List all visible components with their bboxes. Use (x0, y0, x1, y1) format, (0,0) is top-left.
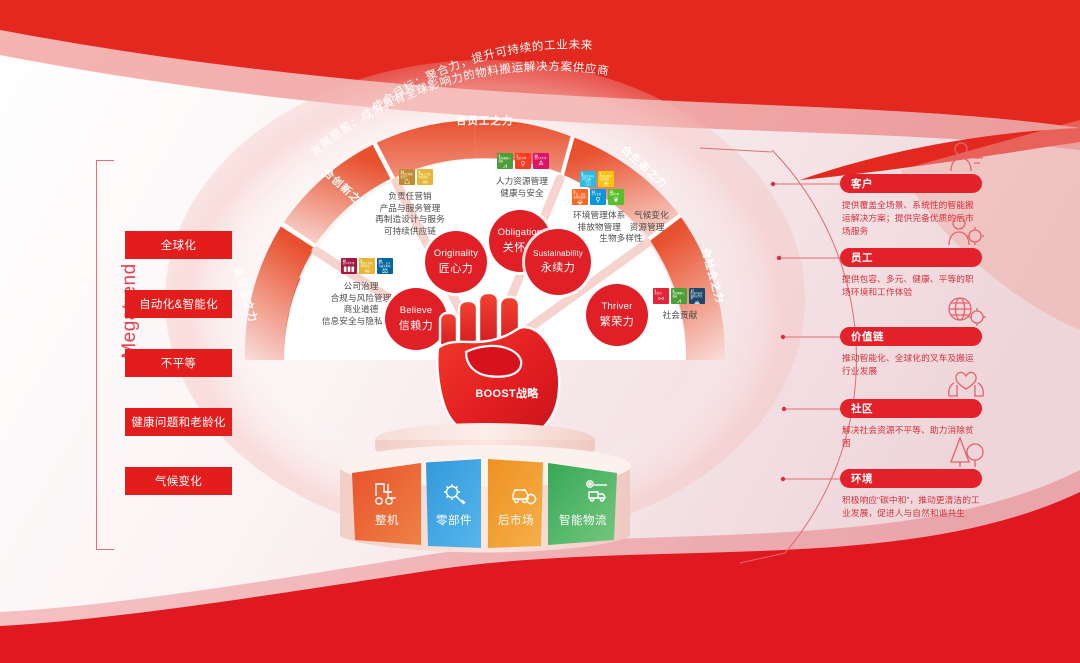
boost-strategy-label: BOOST战略 (432, 385, 582, 401)
sdg-icon-14: 14 水下生物 ⚲ (590, 189, 606, 205)
megatrend-item-globalization[interactable]: 全球化 (125, 231, 232, 259)
stakeholder-employee[interactable]: 员工 提供包容、多元、健康、平等的职场环境和工作体验 (840, 248, 982, 299)
megatrend-item-climate[interactable]: 气候变化 (125, 467, 232, 495)
segment-topics-innovation: 负责任营销 产品与服务管理 再制造设计与服务 可持续供应链 (355, 191, 465, 237)
pillar-originality-cn: 匠心力 (439, 260, 474, 276)
megatrend-panel: Megatrend 全球化 自动化&智能化 不平等 健康问题和老龄化 气候变化 (96, 160, 266, 550)
vision-text: 发展愿景：成为具有全球影响力的物料搬运解决方案供应商 (308, 59, 611, 159)
pillar-thriver-cn: 繁荣力 (600, 313, 635, 329)
sdg-icon-8: 8 体面工作和经济增长 ∞ (359, 258, 375, 274)
stakeholder-employee-title: 员工 (840, 248, 982, 267)
megatrend-item-health-aging[interactable]: 健康问题和老龄化 (125, 408, 232, 436)
stakeholder-value-chain-title: 价值链 (840, 327, 982, 346)
sdg-icon-17: 17 促进目标实现的伙伴关系 ❋ (689, 288, 705, 304)
podium-segment-parts[interactable]: 零部件 (426, 455, 482, 540)
segment-topics-employee: 人力资源管理 健康与安全 (472, 176, 572, 199)
sdg-icon-10b: 10 减少不平等 ≛ (533, 153, 549, 169)
sdg-row-governance: 10 减少不平等 ▮▮▮ 8 体面工作和经济增长 ∞ 16 和平、正义与强大机构… (341, 258, 393, 274)
sdg-icon-8b: 8 体面工作和经济增长 ∞ (417, 169, 433, 185)
sdg-row-employee: 3 良好健康与福祉 ⩘ 5 性别平等 ⚲ 10 减少不平等 ≛ (497, 153, 549, 169)
megatrend-item-inequality[interactable]: 不平等 (125, 349, 232, 377)
stakeholder-environment-desc: 积极响应“碳中和”，推动更清洁的工业发展，促进人与自然和谐共生 (840, 494, 982, 520)
ring-label-employee: 合员工之力 (456, 113, 514, 128)
podium-segment-smart-logistics[interactable]: 智能物流 (548, 455, 618, 540)
sdg-icon-15: 15 陆地生物 ❦ (608, 189, 624, 205)
podium-label-whole-machine: 整机 (375, 512, 399, 528)
sdg-icon-12: 12 负责任消费和生产 ♺ (399, 169, 415, 185)
sdg-row-ecology-top: 6 清洁饮水和卫生设施 ⛆ 7 经济适用的清洁能源 ☀ (580, 171, 614, 187)
stakeholder-environment[interactable]: 环境 积极响应“碳中和”，推动更清洁的工业发展，促进人与自然和谐共生 (840, 469, 982, 520)
sdg-row-innovation: 12 负责任消费和生产 ♺ 8 体面工作和经济增长 ∞ (399, 169, 433, 185)
pillar-thriver-en: Thriver (602, 301, 633, 312)
pillar-originality[interactable]: Originality 匠心力 (425, 231, 487, 293)
sdg-icon-6: 6 清洁饮水和卫生设施 ⛆ (580, 171, 596, 187)
podium-segment-aftermarket[interactable]: 后市场 (488, 455, 544, 540)
podium-segment-whole-machine[interactable]: 整机 (352, 455, 422, 540)
megatrend-list: 全球化 自动化&智能化 不平等 健康问题和老龄化 气候变化 (125, 231, 232, 526)
segment-topics-society: 社会贡献 (645, 310, 715, 322)
pillar-originality-en: Originality (434, 248, 478, 259)
svg-text:发展愿景：成为具有全球影响力的物料搬运解决方案供应商: 发展愿景：成为具有全球影响力的物料搬运解决方案供应商 (308, 59, 611, 159)
pillar-sustainability-cn: 永续力 (541, 259, 576, 275)
fist-graphic (432, 286, 582, 446)
podium-label-smart-logistics: 智能物流 (559, 512, 607, 528)
globe-gear-icon (946, 293, 986, 327)
sdg-icon-3: 3 良好健康与福祉 ⩘ (497, 153, 513, 169)
pillar-sustainability-en: Sustainability (533, 249, 583, 258)
stakeholder-community-title: 社区 (840, 399, 982, 418)
megatrend-bracket (96, 160, 114, 550)
stakeholder-column: 客户 提供覆盖全场景、系统性的智能搬运解决方案；提供完备优质的后市场服务 员工 … (838, 150, 1078, 550)
pillar-thriver[interactable]: Thriver 繁荣力 (586, 284, 648, 346)
tree-leaf-icon (946, 435, 986, 469)
stakeholder-environment-title: 环境 (840, 469, 982, 488)
sdg-icon-3b: 3 良好健康与福祉 ⩘ (671, 288, 687, 304)
podium-label-aftermarket: 后市场 (498, 512, 534, 528)
sdg-row-ecology-bottom: 9 产业、创新和基础设施 ⬙ 14 水下生物 ⚲ 15 陆地生物 ❦ (572, 189, 624, 205)
podium-label-parts: 零部件 (436, 512, 472, 528)
infographic-canvas: 使命目标：聚合力，提升可持续的工业未来 发展愿景：成为具有全球影响力的物料搬运解… (0, 0, 1080, 663)
employee-gear-icon (946, 214, 986, 248)
sdg-icon-9: 9 产业、创新和基础设施 ⬙ (572, 189, 588, 205)
sdg-row-society: 1 无贫穷 ⚯ 3 良好健康与福祉 ⩘ 17 促进目标实现的伙伴关系 ❋ (653, 288, 705, 304)
hands-heart-icon (946, 365, 986, 399)
stakeholder-customer-title: 客户 (840, 174, 982, 193)
sdg-icon-5: 5 性别平等 ⚲ (515, 153, 531, 169)
sdg-icon-10: 10 减少不平等 ▮▮▮ (341, 258, 357, 274)
megatrend-item-automation[interactable]: 自动化&智能化 (125, 290, 232, 318)
sdg-icon-7: 7 经济适用的清洁能源 ☀ (598, 171, 614, 187)
sdg-icon-1: 1 无贫穷 ⚯ (653, 288, 669, 304)
pillar-believe-en: Believe (400, 305, 433, 316)
customer-icon (946, 140, 986, 174)
sdg-icon-16: 16 和平、正义与强大机构 ⚖ (377, 258, 393, 274)
pillar-believe-cn: 信赖力 (399, 317, 434, 333)
